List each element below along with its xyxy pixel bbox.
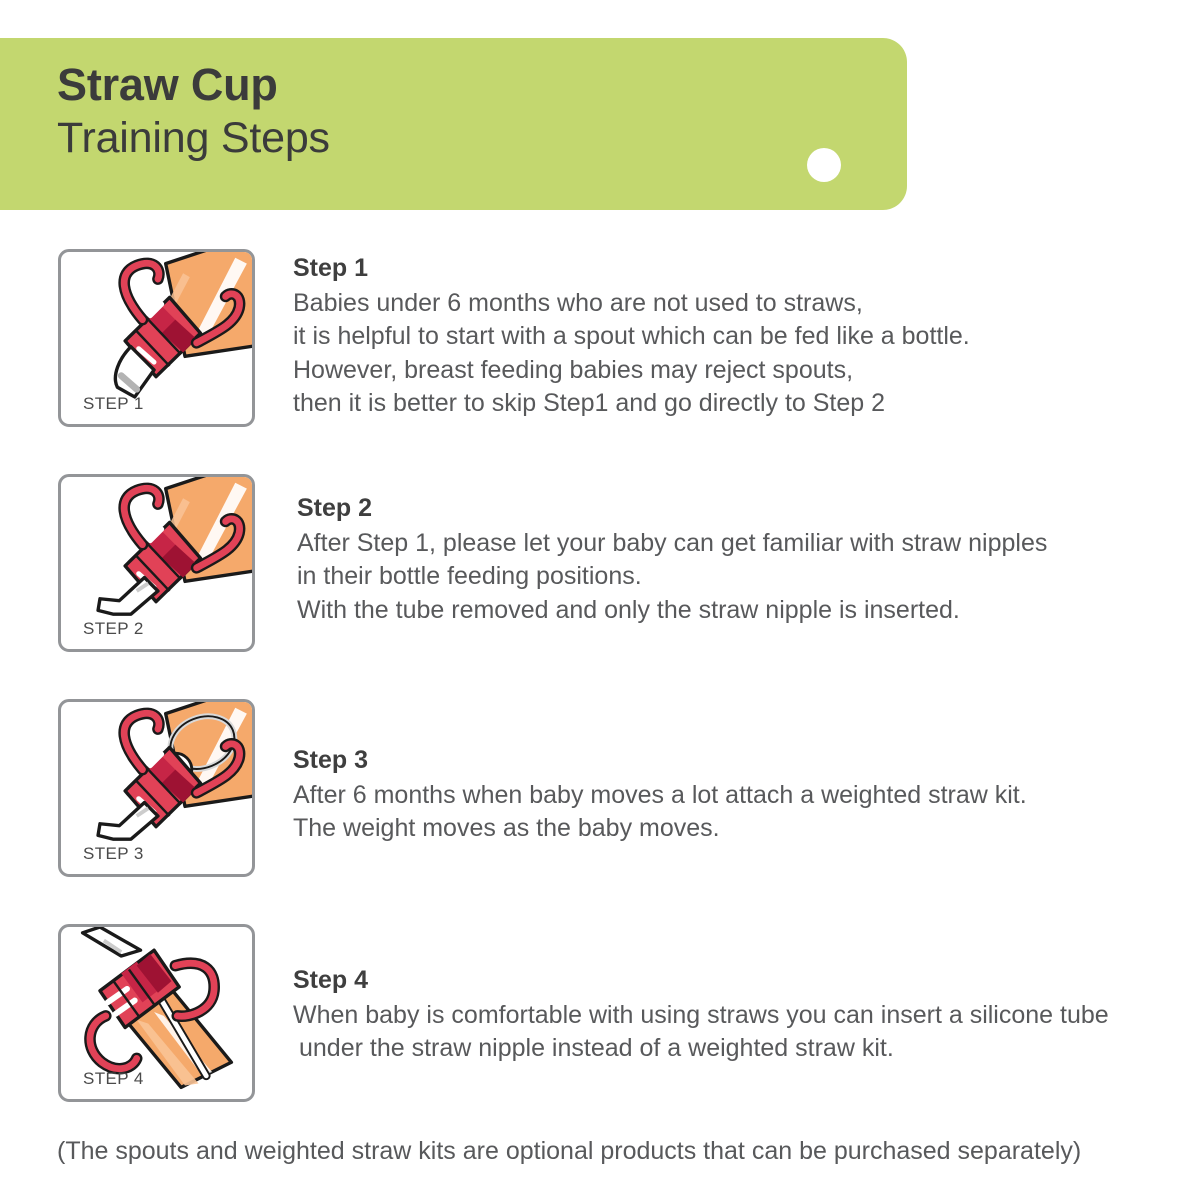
step-thumbnail-caption: STEP 4 [83,1069,144,1089]
step-line: in their bottle feeding positions. [297,560,1047,593]
step-thumbnail-caption: STEP 1 [83,394,144,414]
punch-hole-icon [807,148,841,182]
step-description-2: Step 2 After Step 1, please let your bab… [297,492,1047,627]
step-description-4: Step 4 When baby is comfortable with usi… [293,964,1109,1066]
step-line: When baby is comfortable with using stra… [293,999,1109,1032]
step-thumbnail-3: STEP 3 [58,699,255,877]
step-line: it is helpful to start with a spout whic… [293,320,970,353]
step-thumbnail-caption: STEP 2 [83,619,144,639]
step-line: However, breast feeding babies may rejec… [293,354,970,387]
step-line: under the straw nipple instead of a weig… [293,1032,1109,1065]
step-line: Babies under 6 months who are not used t… [293,287,970,320]
step-line: The weight moves as the baby moves. [293,812,1027,845]
step-heading: Step 3 [293,744,1027,776]
step-thumbnail-1: STEP 1 [58,249,255,427]
step-thumbnail-2: STEP 2 [58,474,255,652]
step-heading: Step 4 [293,964,1109,996]
footer-note: (The spouts and weighted straw kits are … [57,1137,1081,1166]
page-title-main: Straw Cup [57,62,330,107]
step-heading: Step 1 [293,252,970,284]
step-thumbnail-caption: STEP 3 [83,844,144,864]
step-line: With the tube removed and only the straw… [297,594,1047,627]
page-title-sub: Training Steps [57,117,330,160]
step-thumbnail-4: STEP 4 [58,924,255,1102]
step-line: After 6 months when baby moves a lot att… [293,779,1027,812]
page-title: Straw Cup Training Steps [57,62,330,160]
header-banner: Straw Cup Training Steps [0,38,907,210]
step-line: then it is better to skip Step1 and go d… [293,387,970,420]
step-description-3: Step 3 After 6 months when baby moves a … [293,744,1027,846]
step-line: After Step 1, please let your baby can g… [297,527,1047,560]
step-heading: Step 2 [297,492,1047,524]
step-description-1: Step 1 Babies under 6 months who are not… [293,252,970,420]
